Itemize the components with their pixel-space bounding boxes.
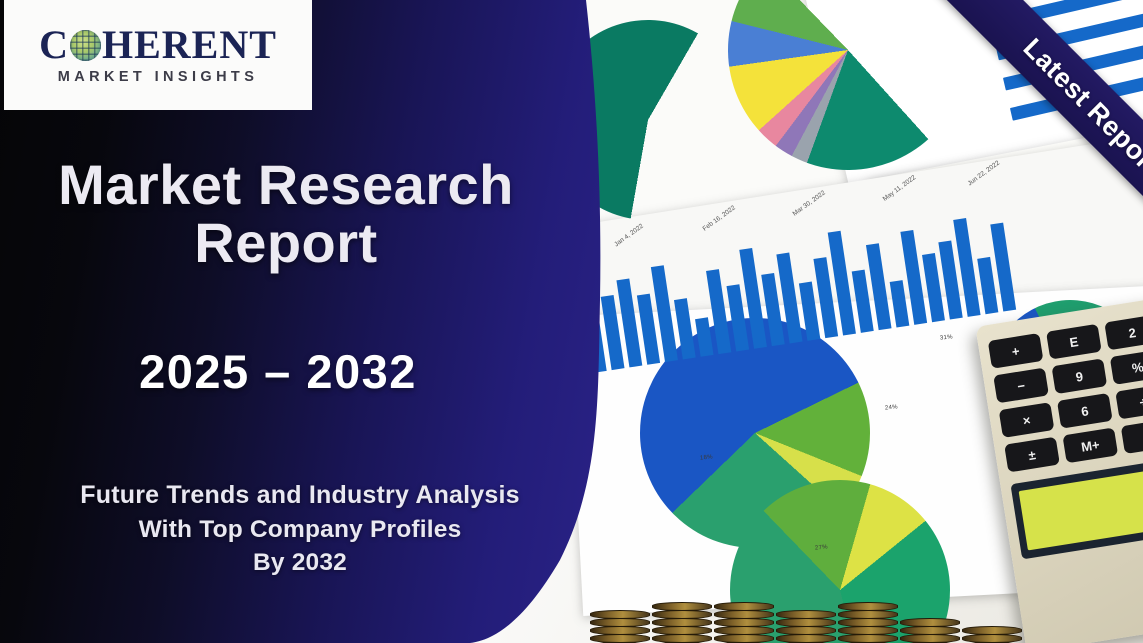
- calculator-key: C: [1121, 418, 1143, 454]
- coin-stack: [962, 626, 1022, 643]
- calculator-screen-bezel: [1010, 458, 1143, 560]
- ribbon-band: Latest Report: [931, 0, 1143, 268]
- coin-stack: [776, 610, 836, 643]
- market-research-banner: 18% 24% 31% 27% Jan 4, 2022 Feb 16, 2022…: [0, 0, 1143, 643]
- coin-stack: [652, 602, 712, 643]
- globe-icon: [70, 30, 101, 61]
- calculator-key: E: [1046, 324, 1102, 360]
- subtitle: Future Trends and Industry Analysis With…: [0, 478, 600, 580]
- calculator-key: ±: [1004, 437, 1060, 473]
- coin-stack: [900, 618, 960, 643]
- coin-stacks: [590, 580, 1050, 643]
- subtitle-line-2: With Top Company Profiles: [0, 513, 600, 547]
- calculator-key: 6: [1057, 393, 1113, 429]
- subtitle-line-1: Future Trends and Industry Analysis: [0, 478, 600, 513]
- title-line-1: Market Research: [0, 156, 572, 214]
- ribbon-label: Latest Report: [1017, 32, 1143, 182]
- logo-wordmark: C HERENT: [39, 25, 277, 65]
- calculator-key: ×: [999, 402, 1055, 438]
- bar: [890, 280, 910, 327]
- calculator-key: −: [993, 368, 1049, 404]
- calculator-keypad: + E 2 − 9 % × 6 ÷ ± M+ C: [988, 315, 1143, 473]
- title-line-2: Report: [0, 214, 572, 272]
- bar: [695, 317, 713, 357]
- year-range: 2025 – 2032: [0, 344, 556, 399]
- calculator-lcd-display: [1019, 467, 1143, 551]
- company-logo[interactable]: C HERENT MARKET INSIGHTS: [4, 0, 312, 110]
- calculator-key: ÷: [1115, 384, 1143, 420]
- corner-ribbon: Latest Report: [873, 0, 1143, 270]
- calculator-key: 9: [1051, 358, 1107, 394]
- logo-tagline: MARKET INSIGHTS: [58, 69, 259, 85]
- calculator-key: 2: [1104, 315, 1143, 351]
- calculator-key: %: [1110, 349, 1143, 385]
- calculator-key: M+: [1062, 427, 1118, 463]
- coin-stack: [590, 610, 650, 643]
- bar: [799, 282, 820, 341]
- bar: [674, 298, 696, 359]
- logo-letter-c: C: [39, 25, 69, 65]
- calculator-key: +: [988, 333, 1044, 369]
- logo-word-rest: HERENT: [102, 25, 277, 65]
- subtitle-line-3: By 2032: [0, 546, 600, 580]
- page-title: Market Research Report: [0, 156, 572, 271]
- coin-stack: [838, 602, 898, 643]
- coin-stack: [714, 602, 774, 643]
